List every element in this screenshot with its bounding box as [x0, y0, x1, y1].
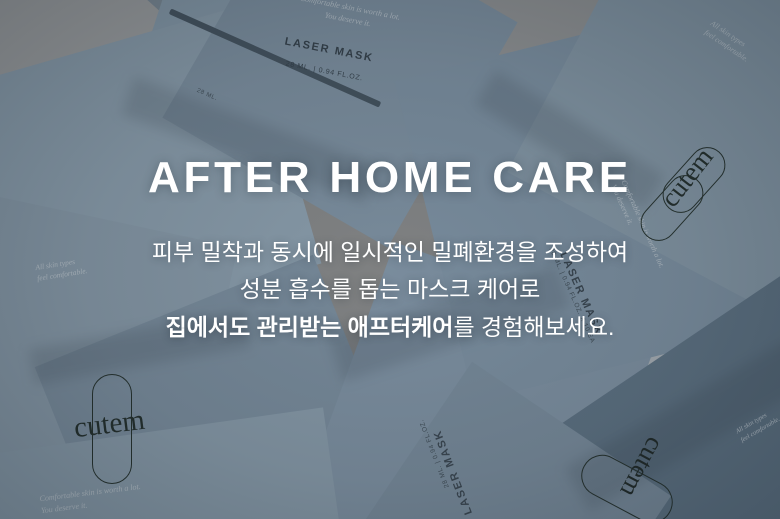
description-line-3-tail: 를 경험해보세요. [453, 314, 614, 340]
description-line-2: 성분 흡수를 돕는 마스크 케어로 [152, 271, 628, 308]
description-line-3-emphasis: 집에서도 관리받는 애프터케어 [166, 314, 454, 340]
description-line-3: 집에서도 관리받는 애프터케어를 경험해보세요. [152, 309, 628, 346]
banner-copy-overlay: AFTER HOME CARE 피부 밀착과 동시에 일시적인 밀폐환경을 조성… [0, 0, 780, 519]
banner-headline: AFTER HOME CARE [148, 156, 632, 200]
after-home-care-banner: Comfortable skin is worth a lot. You des… [0, 0, 780, 519]
description-line-1: 피부 밀착과 동시에 일시적인 밀폐환경을 조성하여 [152, 234, 628, 271]
banner-description: 피부 밀착과 동시에 일시적인 밀폐환경을 조성하여 성분 흡수를 돕는 마스크… [152, 234, 628, 346]
